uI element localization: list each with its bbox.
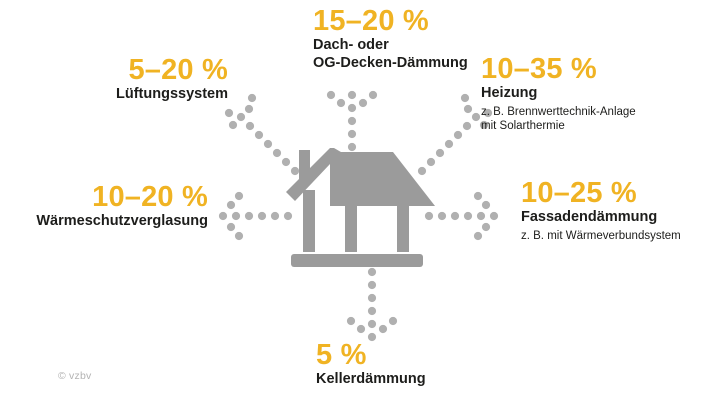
label-waermeschutzverglasung: 10–20 % Wärmeschutzverglasung bbox=[36, 182, 208, 231]
label-lueftungssystem: 5–20 % Lüftungssystem bbox=[116, 55, 228, 104]
percent-value: 10–35 % bbox=[481, 54, 636, 84]
measure-note: z. B. mit Wärmeverbundsystem bbox=[521, 229, 681, 243]
label-heizung: 10–35 % Heizung z. B. Brennwerttechnik-A… bbox=[481, 54, 636, 133]
label-kellerdaemmung: 5 % Kellerdämmung bbox=[316, 340, 426, 389]
label-fassadendaemmung: 10–25 % Fassadendämmung z. B. mit Wärmev… bbox=[521, 178, 681, 243]
measure-name: Fassadendämmung bbox=[521, 209, 681, 226]
percent-value: 5 % bbox=[316, 340, 426, 370]
percent-value: 10–20 % bbox=[36, 182, 208, 212]
arrow-left-icon bbox=[219, 192, 292, 240]
label-dachdaemmung: 15–20 % Dach- oder OG-Decken-Dämmung bbox=[313, 6, 468, 72]
infographic-canvas: 5–20 % Lüftungssystem 15–20 % Dach- oder… bbox=[0, 0, 717, 403]
percent-value: 5–20 % bbox=[116, 55, 228, 85]
measure-name: Wärmeschutzverglasung bbox=[36, 213, 208, 230]
arrow-right-icon bbox=[425, 192, 498, 240]
percent-value: 10–25 % bbox=[521, 178, 681, 208]
house-icon bbox=[283, 148, 435, 270]
measure-name: Dach- oder OG-Decken-Dämmung bbox=[313, 37, 468, 71]
measure-name: Heizung bbox=[481, 85, 636, 102]
measure-name: Kellerdämmung bbox=[316, 371, 426, 388]
copyright-notice: © vzbv bbox=[58, 370, 91, 382]
measure-name: Lüftungssystem bbox=[116, 86, 228, 103]
percent-value: 15–20 % bbox=[313, 6, 468, 36]
arrow-down-icon bbox=[347, 268, 397, 341]
measure-note: z. B. Brennwerttechnik-Anlage mit Solart… bbox=[481, 105, 636, 133]
